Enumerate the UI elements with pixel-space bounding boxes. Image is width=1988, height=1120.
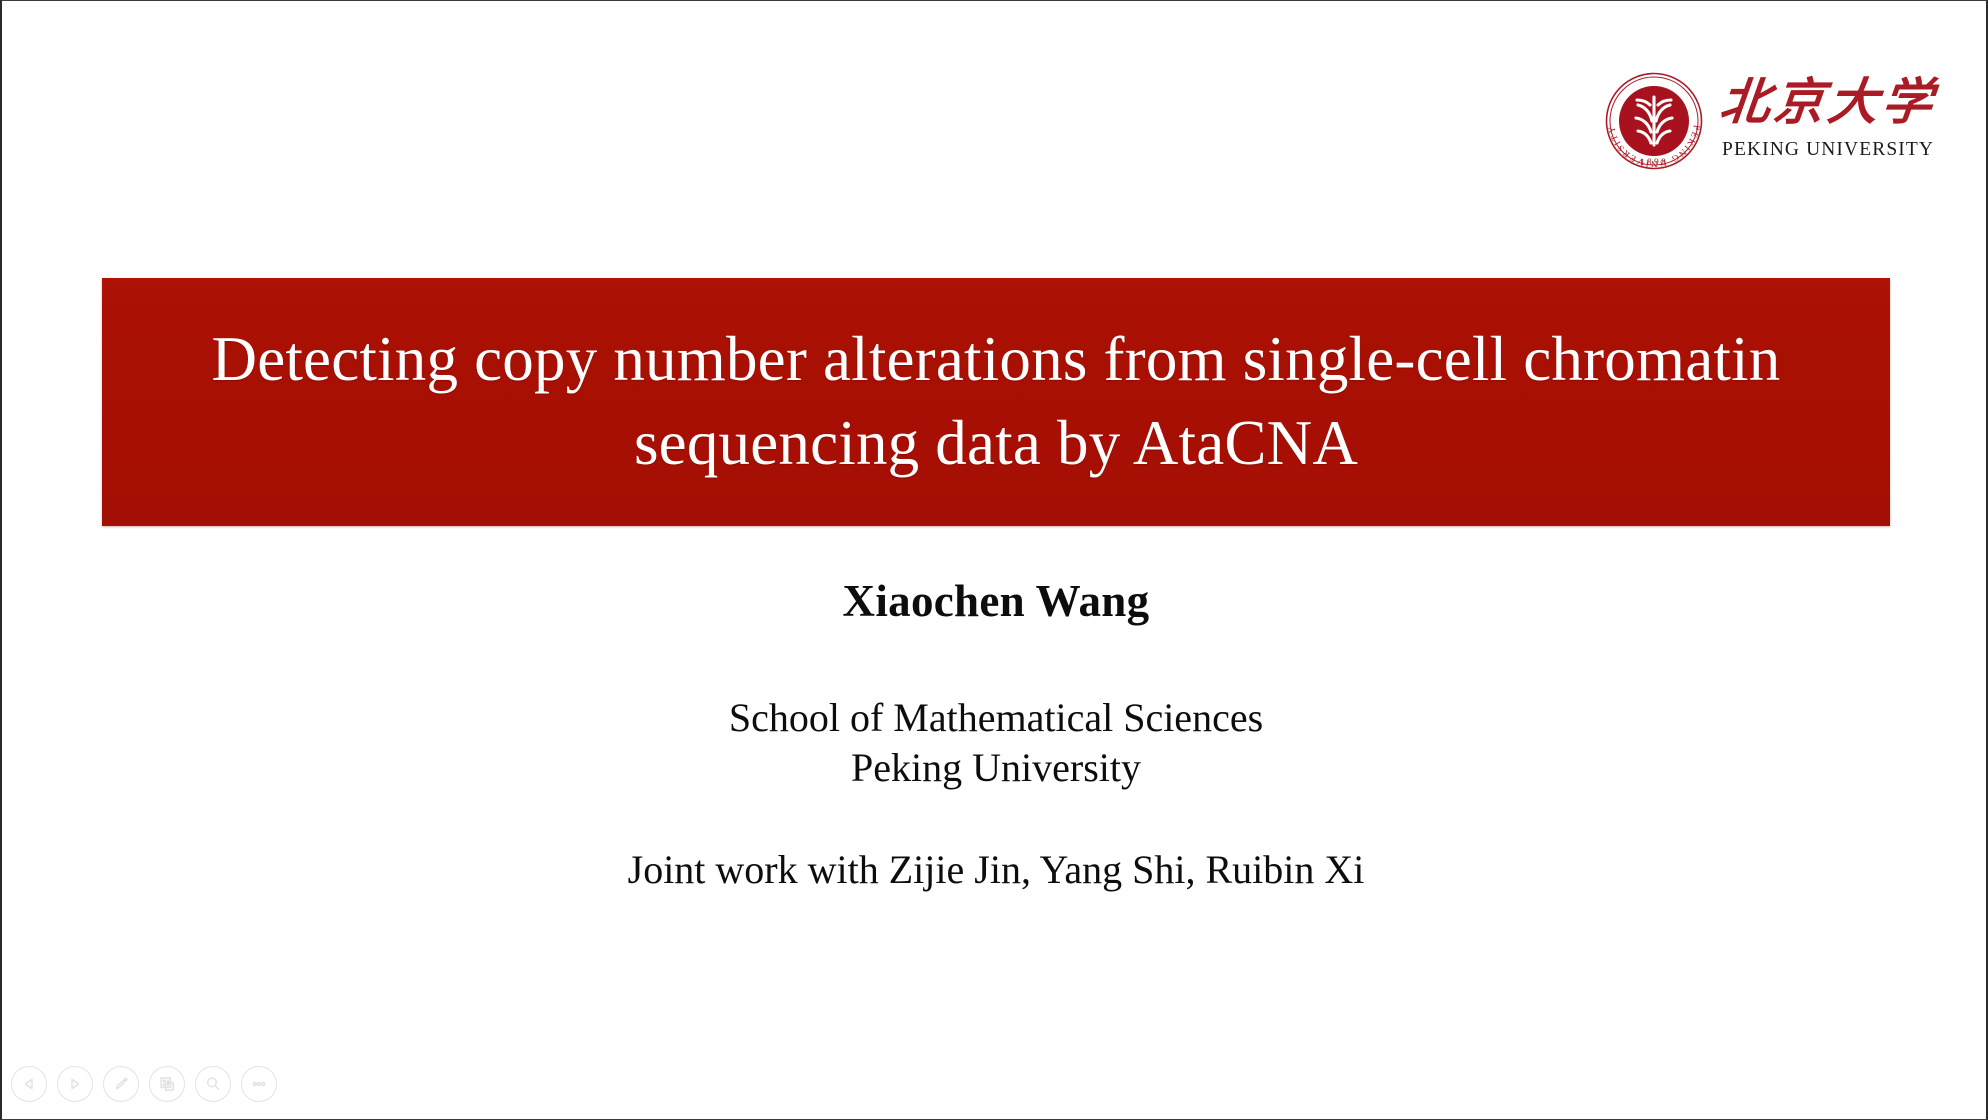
pen-tool-button[interactable]	[103, 1066, 139, 1102]
author-name: Xiaochen Wang	[2, 575, 1988, 627]
cn-char-da: 大	[1825, 77, 1880, 127]
joint-work-credit: Joint work with Zijie Jin, Yang Shi, Rui…	[2, 846, 1988, 893]
affiliation-school: School of Mathematical Sciences	[2, 693, 1988, 743]
peking-university-seal-icon: PEKING UNIVERSITY 1898	[1602, 69, 1706, 173]
english-university-name: PEKING UNIVERSITY	[1722, 139, 1932, 161]
slide-canvas: PEKING UNIVERSITY 1898 北	[0, 0, 1988, 1120]
affiliation-block: School of Mathematical Sciences Peking U…	[2, 693, 1988, 794]
chinese-university-name: 北 京 大 学	[1717, 69, 1936, 135]
slide-grid-icon	[156, 1073, 178, 1095]
ellipsis-icon	[248, 1073, 270, 1095]
cn-char-xue: 学	[1879, 77, 1934, 127]
magnifier-icon	[202, 1073, 224, 1095]
slide-overview-button[interactable]	[149, 1066, 185, 1102]
previous-slide-button[interactable]	[11, 1066, 47, 1102]
title-banner: Detecting copy number alterations from s…	[102, 278, 1890, 526]
more-options-button[interactable]	[241, 1066, 277, 1102]
peking-university-wordmark: 北 京 大 学 PEKING UNIVERSITY	[1720, 67, 1932, 171]
affiliation-university: Peking University	[2, 743, 1988, 793]
cn-char-bei: 北	[1717, 77, 1772, 127]
svg-text:1898: 1898	[1640, 158, 1668, 168]
next-slide-button[interactable]	[57, 1066, 93, 1102]
cn-char-jing: 京	[1771, 77, 1826, 127]
peking-university-logo: PEKING UNIVERSITY 1898 北	[1602, 67, 1932, 179]
zoom-tool-button[interactable]	[195, 1066, 231, 1102]
slide-title: Detecting copy number alterations from s…	[166, 318, 1826, 486]
triangle-right-icon	[65, 1074, 85, 1094]
pen-icon	[110, 1073, 132, 1095]
triangle-left-icon	[19, 1074, 39, 1094]
presenter-toolbar	[11, 1056, 277, 1112]
